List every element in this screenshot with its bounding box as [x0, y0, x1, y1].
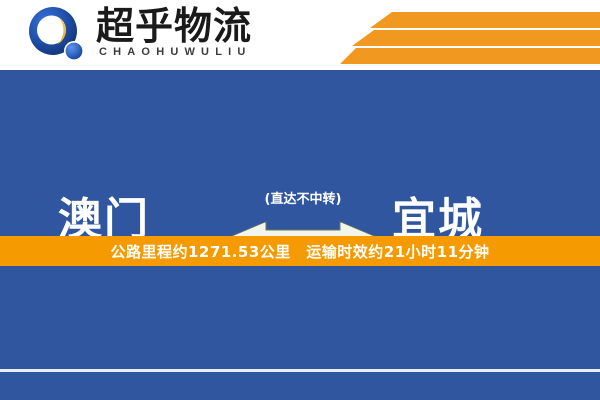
direct-service-note: (直达不中转): [228, 188, 378, 207]
circle-crescent-logo-icon: [26, 6, 88, 64]
route-panel: 澳门 (直达不中转) 【往返运输】 宜城: [0, 70, 600, 236]
logistics-route-poster: 超乎物流 CHAOHUWULIU 澳门 (直达不中转): [0, 0, 600, 400]
poster-header: 超乎物流 CHAOHUWULIU: [0, 0, 600, 70]
orange-speed-stripes-icon: [340, 8, 600, 64]
brand-name-en: CHAOHUWULIU: [99, 46, 252, 58]
distance-duration-summary: 公路里程约1271.53公里 运输时效约21小时11分钟: [110, 241, 489, 262]
coverage-section: 鄢城街道、南营街道、龙头街道、郑集镇、小河镇、刘猴镇、孔湾镇、流水镇、板桥店镇、…: [0, 266, 600, 400]
bottom-divider: [0, 369, 600, 372]
brand-name-cn: 超乎物流: [96, 5, 252, 47]
route-info-bar: 公路里程约1271.53公里 运输时效约21小时11分钟: [0, 236, 600, 266]
